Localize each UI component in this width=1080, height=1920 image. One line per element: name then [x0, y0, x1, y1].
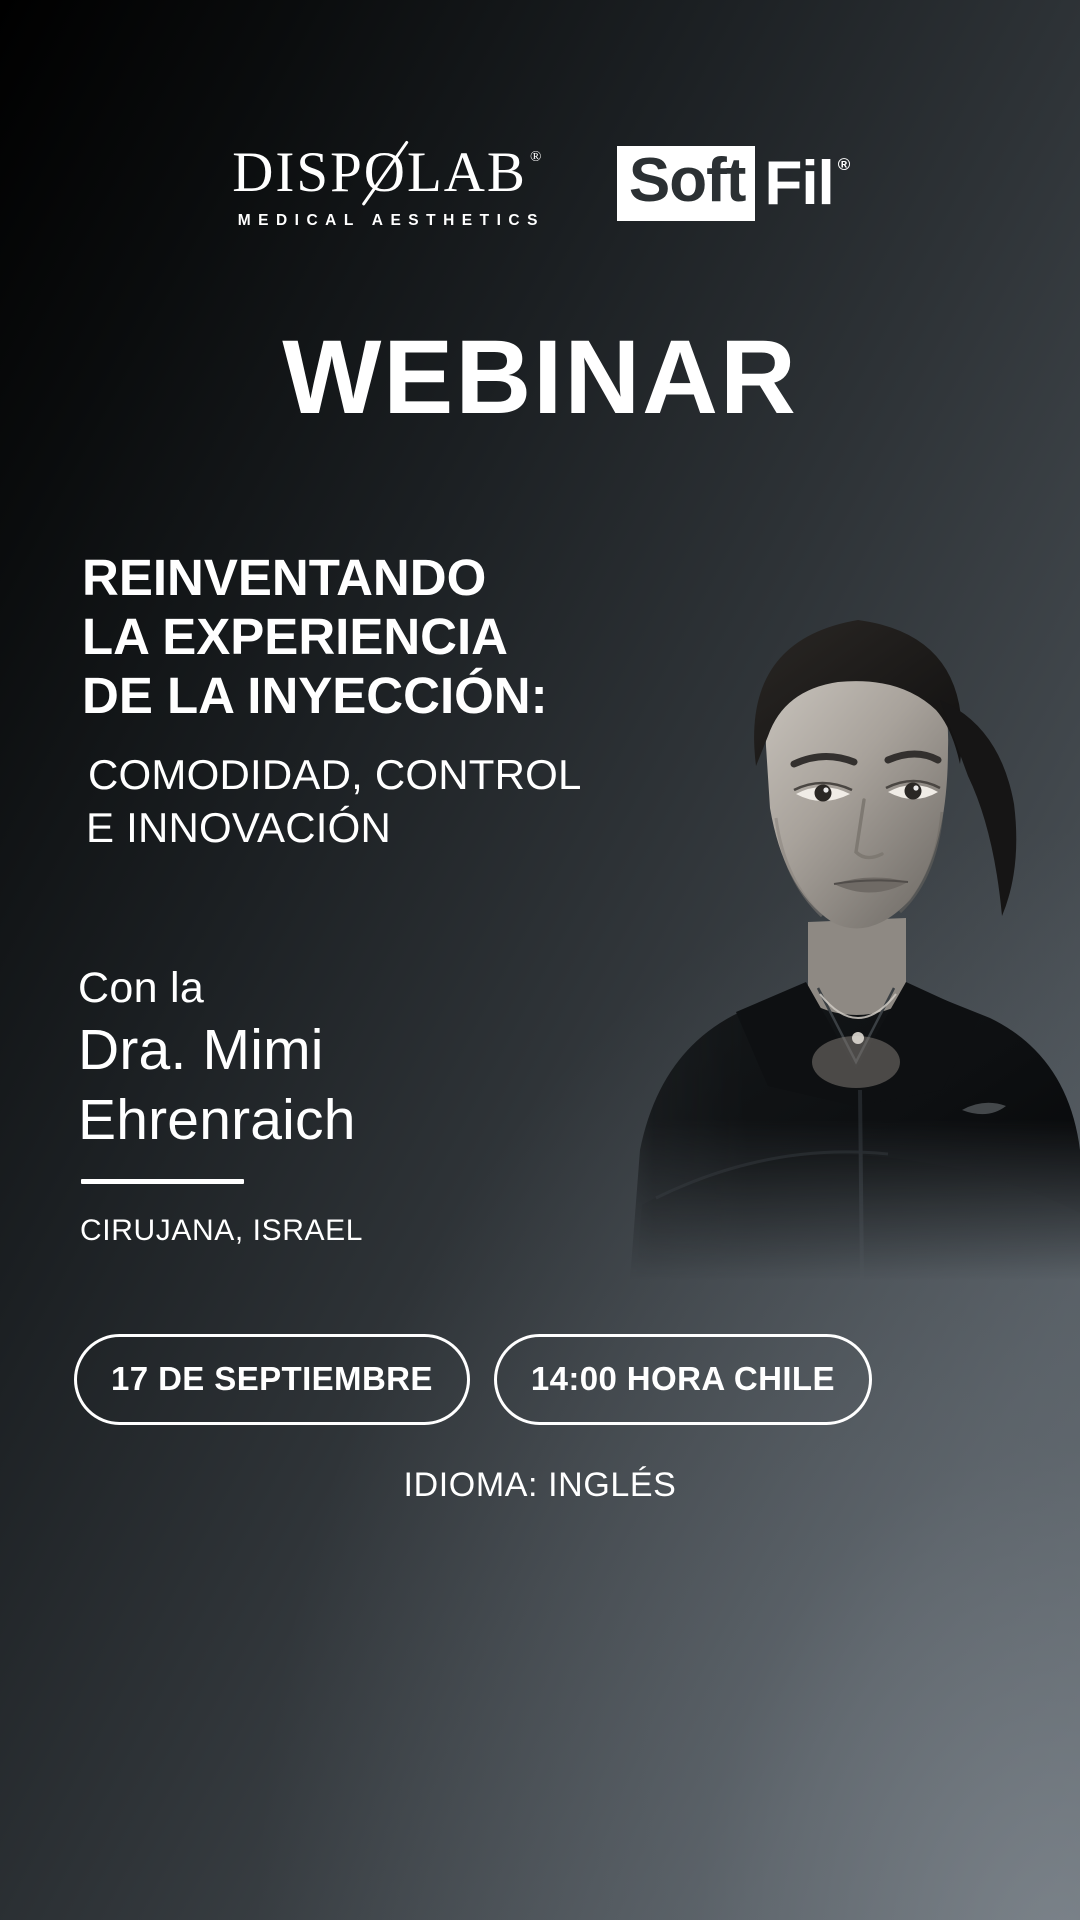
speaker-intro: Con la	[78, 965, 363, 1012]
softfil-registered-icon: ®	[838, 156, 850, 173]
softfil-boxed-text: Soft	[617, 146, 756, 221]
event-details-row: 17 DE SEPTIEMBRE 14:00 HORA CHILE	[74, 1334, 872, 1425]
dispolab-word-part1: DISP	[232, 144, 364, 201]
date-pill[interactable]: 17 DE SEPTIEMBRE	[74, 1334, 470, 1425]
dispolab-wordmark: DISP O LAB ®	[232, 144, 543, 201]
webinar-poster: DISP O LAB ® MEDICAL AESTHETICS Soft Fil…	[0, 0, 1080, 1920]
logo-row: DISP O LAB ® MEDICAL AESTHETICS Soft Fil…	[0, 140, 1080, 230]
webinar-heading: WEBINAR	[0, 325, 1080, 430]
speaker-block: Con la Dra. Mimi Ehrenraich CIRUJANA, IS…	[78, 965, 363, 1248]
softfil-logo: Soft Fil ®	[617, 146, 849, 221]
speaker-role: CIRUJANA, ISRAEL	[78, 1214, 363, 1248]
title-bold-line-1: REINVENTANDO	[82, 548, 702, 607]
dispolab-word-part2: LAB	[407, 144, 527, 201]
dispolab-registered-icon: ®	[530, 150, 543, 165]
title-light-line-2: E INNOVACIÓN	[82, 802, 702, 855]
title-block: REINVENTANDO LA EXPERIENCIA DE LA INYECC…	[82, 548, 702, 854]
softfil-plain-text: Fil	[755, 153, 833, 215]
speaker-name-line-2: Ehrenraich	[78, 1090, 363, 1152]
language-note: IDIOMA: INGLÉS	[0, 1466, 1080, 1505]
speaker-name-line-1: Dra. Mimi	[78, 1020, 363, 1082]
time-pill[interactable]: 14:00 HORA CHILE	[494, 1334, 872, 1425]
title-bold-line-2: LA EXPERIENCIA	[82, 607, 702, 666]
speaker-divider	[81, 1179, 244, 1184]
title-bold-line-3: DE LA INYECCIÓN:	[82, 666, 702, 725]
title-light-line-1: COMODIDAD, CONTROL	[82, 749, 702, 802]
dispolab-tagline: MEDICAL AESTHETICS	[231, 212, 545, 230]
dispolab-logo: DISP O LAB ® MEDICAL AESTHETICS	[231, 140, 545, 230]
dispolab-slashed-o-icon: O	[364, 144, 407, 201]
